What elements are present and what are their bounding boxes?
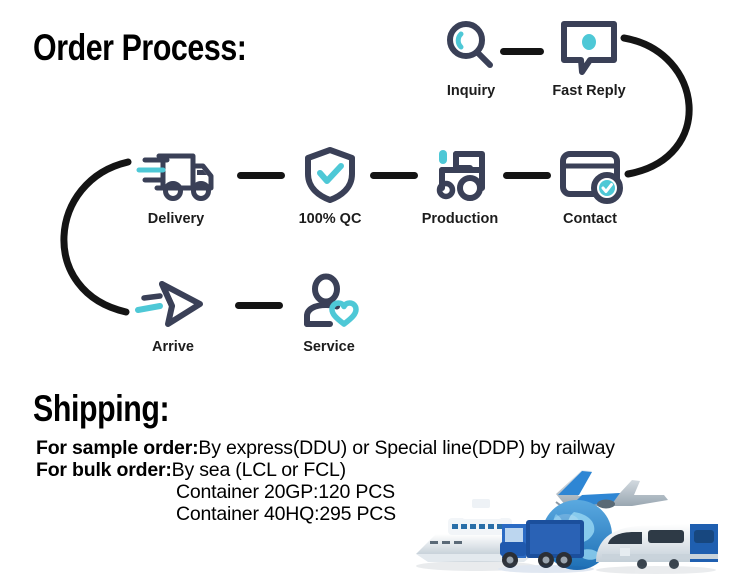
shipping-line-value: Container 40HQ:295 PCS (176, 503, 396, 525)
factory-vehicle-icon (405, 142, 515, 208)
order-process-title: Order Process: (33, 27, 246, 69)
logistics-transport-photo (406, 462, 750, 577)
flow-node-label: Production (405, 211, 515, 227)
flow-node-service: Service (274, 270, 384, 355)
shipping-line-bulk-order: For bulk order:By sea (LCL or FCL) (36, 459, 346, 482)
magnifier-icon (416, 14, 526, 80)
flow-node-production: Production (405, 142, 515, 227)
flow-node-label: Arrive (118, 339, 228, 355)
person-heart-icon (274, 270, 384, 336)
credit-card-check-icon (535, 142, 645, 208)
shield-check-icon (275, 142, 385, 208)
shipping-line-value: By sea (LCL or FCL) (172, 459, 346, 481)
shipping-line-label: For sample order: (36, 437, 198, 459)
shipping-line-sample-order: For sample order:By express(DDU) or Spec… (36, 437, 615, 460)
shipping-line-label: For bulk order: (36, 459, 172, 481)
shipping-title: Shipping: (33, 388, 169, 430)
shipping-line-value: By express(DDU) or Special line(DDP) by … (198, 437, 614, 459)
shipping-line-container-20gp: Container 20GP:120 PCS (176, 481, 395, 504)
shipping-line-container-40hq: Container 40HQ:295 PCS (176, 503, 396, 526)
flow-node-contact: Contact (535, 142, 645, 227)
flow-node-label: 100% QC (275, 211, 385, 227)
flow-node-qc: 100% QC (275, 142, 385, 227)
flow-node-label: Inquiry (416, 83, 526, 99)
flow-node-label: Service (274, 339, 384, 355)
paper-plane-icon (118, 270, 228, 336)
flow-node-label: Contact (535, 211, 645, 227)
shipping-line-value: Container 20GP:120 PCS (176, 481, 395, 503)
flow-node-inquiry: Inquiry (416, 14, 526, 99)
order-process-shipping-page: Order Process: Inquiry Fast Reply (0, 0, 750, 577)
flow-node-arrive: Arrive (118, 270, 228, 355)
